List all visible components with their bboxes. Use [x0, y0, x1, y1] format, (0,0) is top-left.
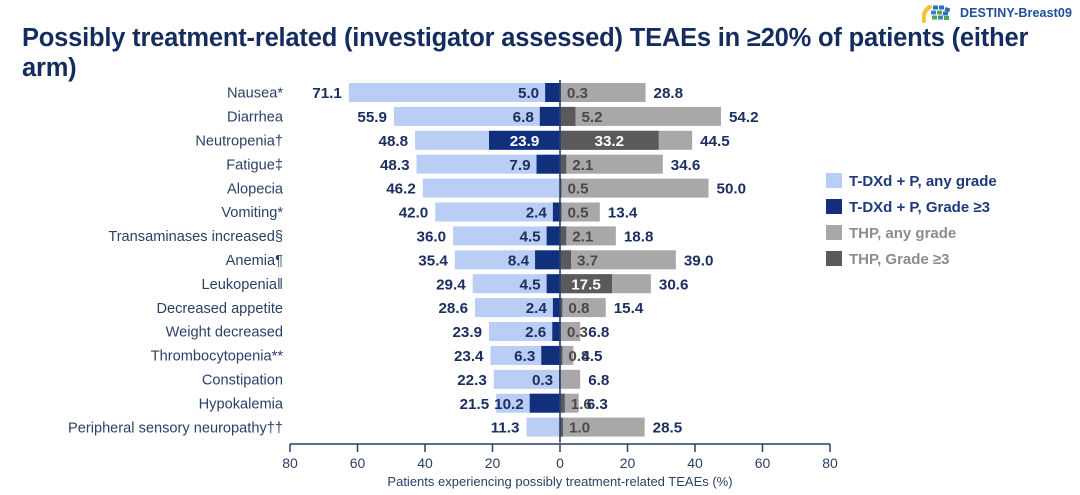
value-tdxd-any-grade: 22.3 — [457, 372, 487, 389]
value-thp-any-grade: 13.4 — [608, 205, 638, 222]
value-thp-grade3: 1.0 — [569, 420, 590, 437]
value-tdxd-any-grade: 48.3 — [380, 157, 410, 174]
axis-tick-label: 20 — [485, 455, 501, 471]
page-title: Possibly treatment-related (investigator… — [22, 24, 1062, 83]
bar-tdxd-grade3 — [541, 346, 560, 365]
value-thp-any-grade: 6.3 — [587, 396, 608, 413]
bar-tdxd-grade3 — [545, 83, 560, 102]
axis-tick-label: 60 — [755, 455, 771, 471]
chart-legend: T-DXd + P, any gradeT-DXd + P, Grade ≥3T… — [826, 173, 997, 268]
axis-tick-label: 40 — [687, 455, 703, 471]
chart-row: Peripheral sensory neuropathy††11.31.028… — [68, 418, 683, 437]
legend-label: THP, any grade — [849, 225, 956, 242]
category-label: Leukopenia‖ — [202, 277, 284, 293]
value-thp-grade3: 17.5 — [571, 276, 601, 293]
chart-row: Thrombocytopenia**23.46.30.84.5 — [151, 346, 603, 365]
value-thp-any-grade: 28.5 — [653, 420, 683, 437]
axis-tick-label: 80 — [822, 455, 838, 471]
value-thp-any-grade: 15.4 — [614, 300, 644, 317]
value-thp-any-grade: 18.8 — [624, 229, 654, 246]
chart-row: Fatigue‡48.37.92.134.6 — [226, 155, 700, 174]
chart-row: Alopecia46.20.550.0 — [227, 179, 746, 198]
bar-tdxd-grade3 — [547, 274, 560, 293]
bar-thp-any-grade — [560, 370, 580, 389]
category-label: Anemia¶ — [226, 253, 283, 269]
value-tdxd-grade3: 5.0 — [518, 85, 539, 102]
value-tdxd-any-grade: 46.2 — [386, 181, 416, 198]
value-tdxd-any-grade: 21.5 — [460, 396, 490, 413]
bar-tdxd-grade3 — [535, 250, 560, 269]
value-tdxd-any-grade: 36.0 — [417, 229, 447, 246]
category-label: Diarrhea — [227, 110, 284, 126]
category-label: Weight decreased — [166, 325, 283, 341]
value-tdxd-grade3: 7.9 — [509, 157, 530, 174]
bar-tdxd-any-grade — [453, 226, 560, 245]
value-tdxd-grade3: 4.5 — [520, 276, 542, 293]
value-tdxd-grade3: 23.9 — [510, 133, 540, 150]
bar-tdxd-grade3 — [530, 394, 560, 413]
value-tdxd-any-grade: 28.6 — [438, 300, 468, 317]
value-tdxd-grade3: 2.4 — [526, 205, 548, 222]
chart-row: Hypokalemia21.510.21.66.3 — [199, 394, 608, 413]
value-thp-any-grade: 6.8 — [588, 372, 609, 389]
category-label: Nausea* — [227, 86, 283, 102]
category-label: Hypokalemia — [199, 396, 284, 412]
bar-tdxd-grade3 — [547, 226, 560, 245]
chart-row: Nausea*71.15.00.328.8 — [227, 83, 683, 102]
value-tdxd-grade3: 10.2 — [494, 396, 524, 413]
value-tdxd-any-grade: 48.8 — [379, 133, 409, 150]
value-thp-any-grade: 30.6 — [659, 276, 689, 293]
value-tdxd-any-grade: 23.4 — [454, 348, 484, 365]
chart-row: Vomiting*42.02.40.513.4 — [221, 203, 638, 222]
bar-tdxd-grade3 — [553, 203, 560, 222]
chart-row: Diarrhea55.96.85.254.2 — [227, 107, 759, 126]
slide-root: DESTINY-Breast09 Possibly treatment-rela… — [0, 0, 1080, 495]
value-tdxd-grade3: 2.4 — [526, 300, 548, 317]
axis-tick-label: 0 — [556, 455, 564, 471]
value-thp-grade3: 3.7 — [577, 252, 598, 269]
value-thp-grade3: 0.5 — [567, 181, 589, 198]
legend-label: THP, Grade ≥3 — [849, 251, 950, 268]
legend-swatch — [826, 199, 842, 214]
value-thp-grade3: 33.2 — [595, 133, 625, 150]
value-thp-any-grade: 50.0 — [717, 181, 747, 198]
study-logo-label: DESTINY-Breast09 — [960, 6, 1072, 20]
value-thp-grade3: 0.8 — [568, 300, 589, 317]
category-label: Constipation — [202, 373, 283, 389]
study-logo: DESTINY-Breast09 — [922, 3, 1072, 23]
value-thp-any-grade: 6.8 — [588, 324, 609, 341]
bar-thp-grade3 — [560, 155, 566, 174]
value-tdxd-any-grade: 55.9 — [357, 109, 387, 126]
bar-thp-grade3 — [560, 250, 571, 269]
legend-swatch — [826, 225, 842, 240]
category-label: Decreased appetite — [156, 301, 283, 317]
chart-svg: Nausea*71.15.00.328.8Diarrhea55.96.85.25… — [0, 78, 1080, 495]
bar-tdxd-any-grade — [423, 179, 560, 198]
value-thp-grade3: 0.3 — [567, 85, 588, 102]
value-tdxd-any-grade: 29.4 — [436, 276, 466, 293]
category-label: Fatigue‡ — [226, 157, 283, 173]
value-tdxd-grade3: 6.8 — [513, 109, 534, 126]
axis-tick-label: 20 — [620, 455, 636, 471]
value-tdxd-any-grade: 42.0 — [399, 205, 429, 222]
axis-tick-label: 80 — [282, 455, 298, 471]
bar-tdxd-grade3 — [553, 298, 560, 317]
chart-row: Leukopenia‖29.44.517.530.6 — [202, 274, 689, 293]
value-thp-grade3: 5.2 — [581, 109, 602, 126]
value-thp-any-grade: 28.8 — [654, 85, 684, 102]
value-thp-grade3: 0.3 — [567, 324, 588, 341]
chart-row: Decreased appetite28.62.40.815.4 — [156, 298, 643, 317]
value-thp-grade3: 2.1 — [572, 229, 594, 246]
value-tdxd-grade3: 6.3 — [514, 348, 535, 365]
x-axis: 80604020020406080Patients experiencing p… — [282, 444, 838, 489]
chart-row: Transaminases increased§36.04.52.118.8 — [108, 226, 653, 245]
axis-tick-label: 60 — [350, 455, 366, 471]
category-label: Neutropenia† — [195, 134, 283, 150]
chart-row: Constipation22.30.36.8 — [202, 370, 609, 389]
value-tdxd-any-grade: 71.1 — [312, 85, 342, 102]
category-label: Peripheral sensory neuropathy†† — [68, 420, 283, 436]
chart-row: Weight decreased23.92.60.36.8 — [166, 322, 610, 341]
legend-swatch — [826, 251, 842, 266]
bar-tdxd-any-grade — [475, 298, 560, 317]
value-tdxd-any-grade: 23.9 — [452, 324, 482, 341]
value-thp-grade3: 2.1 — [572, 157, 594, 174]
destiny-breast-logo-icon — [922, 3, 956, 23]
value-thp-grade3: 0.5 — [567, 205, 589, 222]
category-label: Transaminases increased§ — [108, 229, 283, 245]
category-label: Alopecia — [227, 181, 284, 197]
value-thp-any-grade: 44.5 — [700, 133, 730, 150]
teae-diverging-bar-chart: Nausea*71.15.00.328.8Diarrhea55.96.85.25… — [0, 78, 1080, 495]
value-tdxd-grade3: 2.6 — [525, 324, 546, 341]
legend-swatch — [826, 173, 842, 188]
bar-tdxd-grade3 — [552, 322, 560, 341]
value-thp-any-grade: 54.2 — [729, 109, 759, 126]
bar-thp-grade3 — [560, 226, 566, 245]
value-tdxd-grade3: 4.5 — [520, 229, 542, 246]
category-label: Vomiting* — [221, 205, 283, 221]
axis-tick-label: 40 — [417, 455, 433, 471]
axis-title: Patients experiencing possibly treatment… — [387, 474, 732, 489]
value-tdxd-any-grade: 35.4 — [418, 252, 448, 269]
value-tdxd-grade3: 8.4 — [508, 252, 530, 269]
bar-tdxd-any-grade — [526, 418, 560, 437]
legend-label: T-DXd + P, Grade ≥3 — [849, 199, 990, 216]
category-label: Thrombocytopenia** — [151, 349, 284, 365]
value-tdxd-grade3: 0.3 — [532, 372, 553, 389]
value-thp-any-grade: 39.0 — [684, 252, 714, 269]
chart-row: Anemia¶35.48.43.739.0 — [226, 250, 714, 269]
bar-tdxd-any-grade — [394, 107, 560, 126]
value-tdxd-any-grade: 11.3 — [491, 420, 520, 437]
bar-tdxd-grade3 — [540, 107, 560, 126]
bar-thp-grade3 — [560, 107, 575, 126]
bar-tdxd-grade3 — [537, 155, 560, 174]
chart-row: Neutropenia†48.823.933.244.5 — [195, 131, 730, 150]
value-thp-any-grade: 34.6 — [671, 157, 701, 174]
value-thp-any-grade: 4.5 — [581, 348, 603, 365]
legend-label: T-DXd + P, any grade — [849, 173, 997, 190]
